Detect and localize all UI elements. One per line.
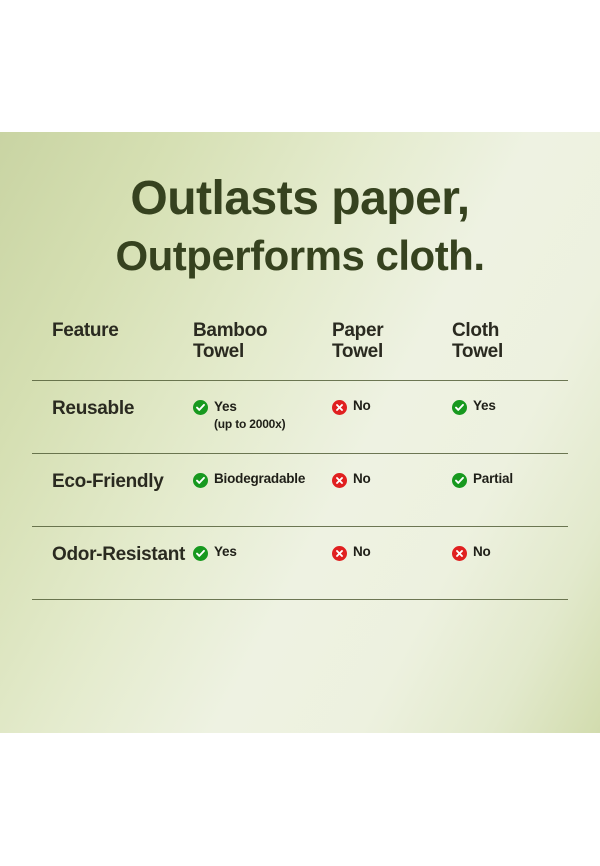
- infographic-panel: Outlasts paper, Outperforms cloth. Featu…: [0, 132, 600, 733]
- row-bamboo-cell: Yes: [193, 544, 332, 561]
- x-circle-icon: [332, 473, 347, 488]
- column-header-paper-line-1: Paper: [332, 320, 383, 341]
- row-cloth-cell: Partial: [452, 471, 568, 488]
- table-divider: [32, 599, 568, 600]
- cell-value-text: Partial: [473, 471, 513, 487]
- page-title: Outlasts paper, Outperforms cloth.: [0, 172, 600, 282]
- column-header-bamboo-line-2: Towel: [193, 341, 244, 362]
- cell-value-text: No: [353, 471, 371, 487]
- row-feature-cell: Odor-Resistant: [32, 544, 193, 566]
- check-circle-icon: [193, 473, 208, 488]
- table-header-row: Feature Bamboo Towel Paper Towel Cloth T…: [32, 316, 568, 380]
- table-row: Eco-Friendly Biodegradable No: [32, 454, 568, 526]
- cell-value-text: No: [353, 544, 371, 560]
- column-header-bamboo-towel: Bamboo Towel: [193, 320, 332, 362]
- check-circle-icon: [193, 546, 208, 561]
- x-circle-icon: [332, 546, 347, 561]
- row-feature-label: Reusable: [52, 398, 134, 419]
- column-header-cloth-towel: Cloth Towel: [452, 320, 568, 362]
- row-feature-label: Odor-Resistant: [52, 544, 185, 565]
- column-header-cloth-line-2: Towel: [452, 341, 503, 362]
- cell-value-text: No: [353, 398, 371, 414]
- x-circle-icon: [332, 400, 347, 415]
- check-circle-icon: [452, 400, 467, 415]
- column-header-feature-label: Feature: [52, 304, 119, 341]
- table-row: Odor-Resistant Yes No: [32, 527, 568, 599]
- check-circle-icon: [193, 400, 208, 415]
- row-feature-label: Eco-Friendly: [52, 471, 163, 492]
- cell-value-text: Yes: [473, 398, 496, 414]
- cell-value-text: Biodegradable: [214, 471, 305, 487]
- column-header-feature: Feature: [32, 320, 193, 341]
- cell-value-text: No: [473, 544, 491, 560]
- column-header-bamboo-line-1: Bamboo: [193, 320, 267, 341]
- row-bamboo-cell: Biodegradable: [193, 471, 332, 488]
- cell-value-text: Yes: [214, 399, 237, 414]
- row-feature-cell: Eco-Friendly: [32, 471, 193, 493]
- row-feature-cell: Reusable: [32, 398, 193, 420]
- row-paper-cell: No: [332, 471, 452, 488]
- cell-value-text: Yes: [214, 544, 237, 560]
- column-header-cloth-line-1: Cloth: [452, 320, 499, 341]
- cell-value-subtext: (up to 2000x): [214, 417, 285, 432]
- row-paper-cell: No: [332, 398, 452, 415]
- comparison-table: Feature Bamboo Towel Paper Towel Cloth T…: [32, 316, 568, 600]
- check-circle-icon: [452, 473, 467, 488]
- row-bamboo-cell: Yes (up to 2000x): [193, 398, 332, 432]
- headline-line-1: Outlasts paper,: [0, 172, 600, 226]
- table-row: Reusable Yes (up to 2000x): [32, 381, 568, 453]
- column-header-paper-line-2: Towel: [332, 341, 383, 362]
- headline-line-2: Outperforms cloth.: [0, 230, 600, 282]
- x-circle-icon: [452, 546, 467, 561]
- row-cloth-cell: No: [452, 544, 568, 561]
- row-cloth-cell: Yes: [452, 398, 568, 415]
- row-paper-cell: No: [332, 544, 452, 561]
- column-header-paper-towel: Paper Towel: [332, 320, 452, 362]
